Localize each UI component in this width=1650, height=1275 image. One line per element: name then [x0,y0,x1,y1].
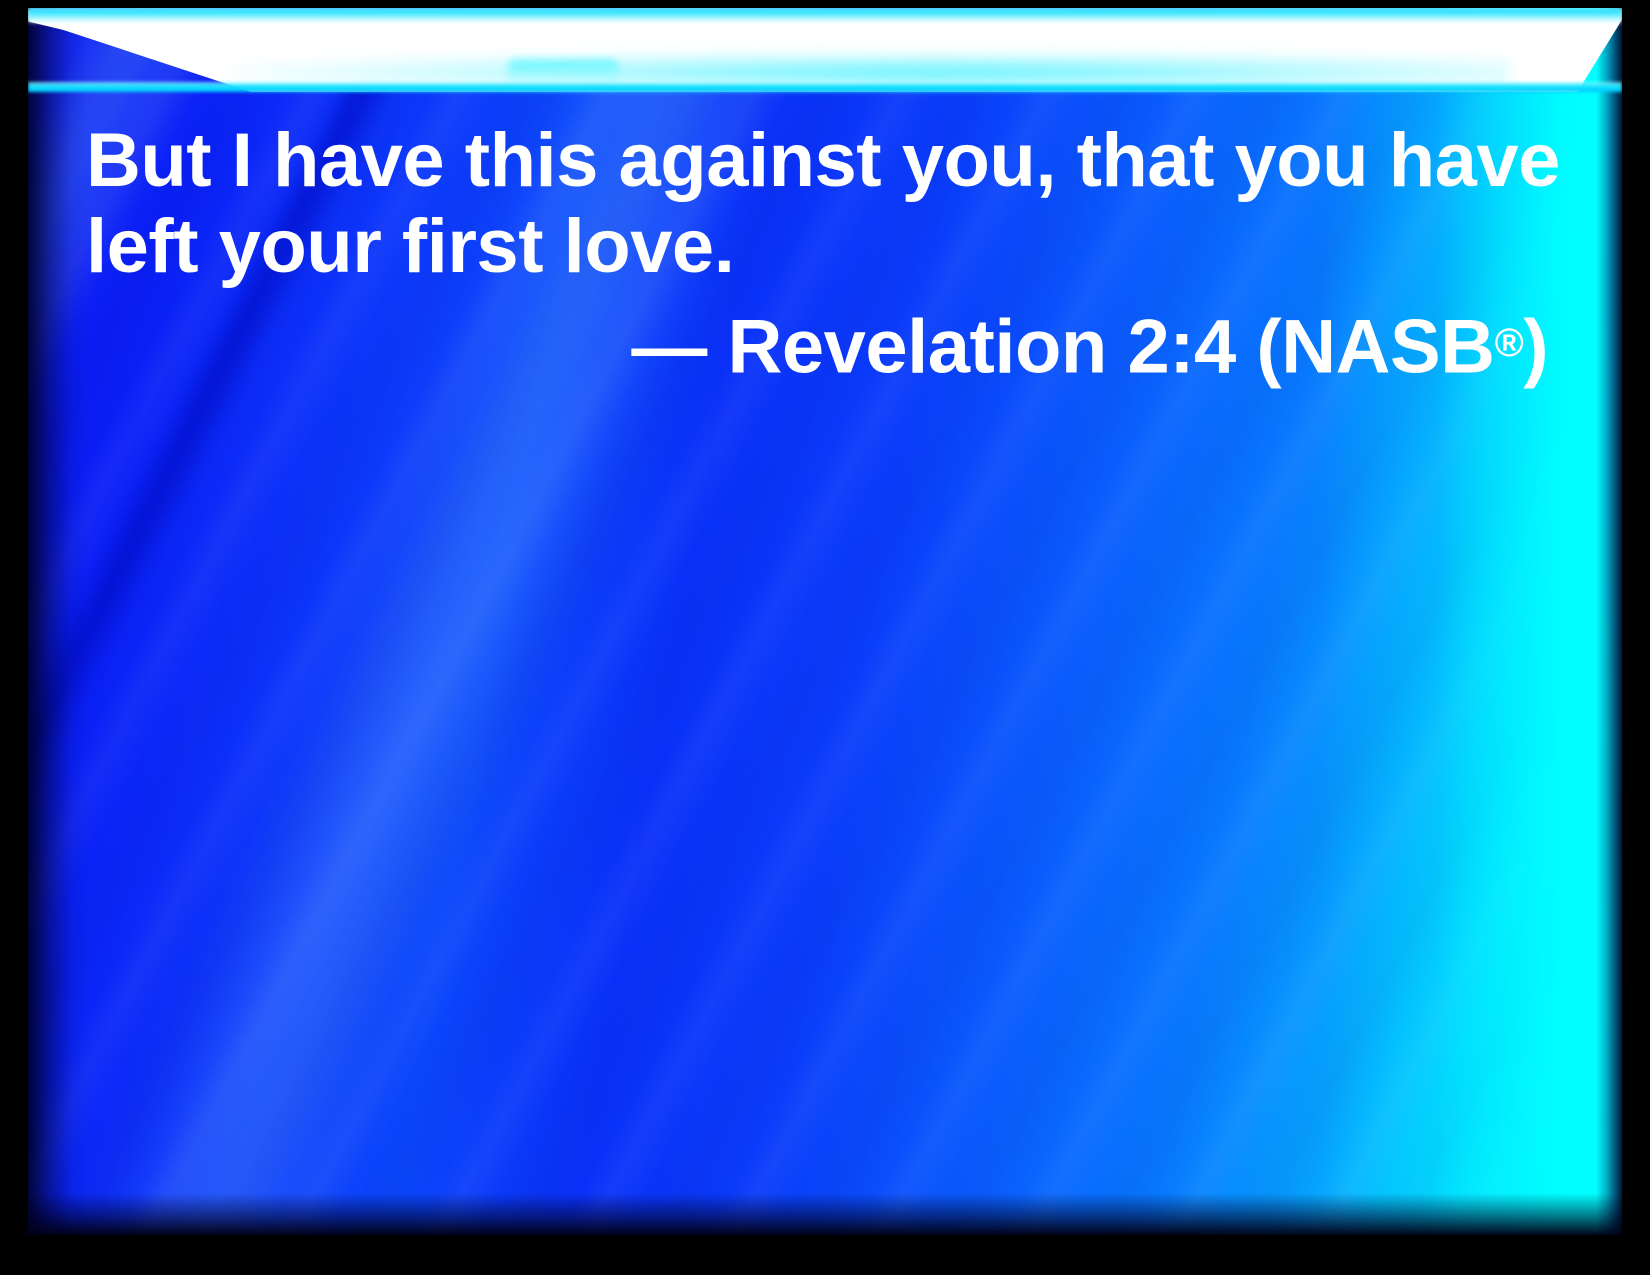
glow-band-bottom-edge [28,82,1622,92]
scripture-slide: But I have this against you, that you ha… [0,0,1650,1275]
edge-shadow-right [1596,8,1622,1235]
edge-shadow-left [28,8,88,1235]
attribution-close-paren: ) [1523,305,1548,390]
slide-content-frame: But I have this against you, that you ha… [28,8,1622,1235]
glow-band-haze [235,52,1510,86]
attribution-reference: Revelation 2:4 (NASB [707,305,1495,390]
verse-text: But I have this against you, that you ha… [86,118,1576,290]
glow-band-top-edge [28,8,1622,22]
attribution-dash: — [631,305,707,390]
registered-trademark-icon: ® [1495,321,1524,365]
verse-attribution: — Revelation 2:4 (NASB®) [86,300,1548,391]
edge-shadow-bottom [28,1193,1622,1235]
top-glow-band [28,8,1622,92]
